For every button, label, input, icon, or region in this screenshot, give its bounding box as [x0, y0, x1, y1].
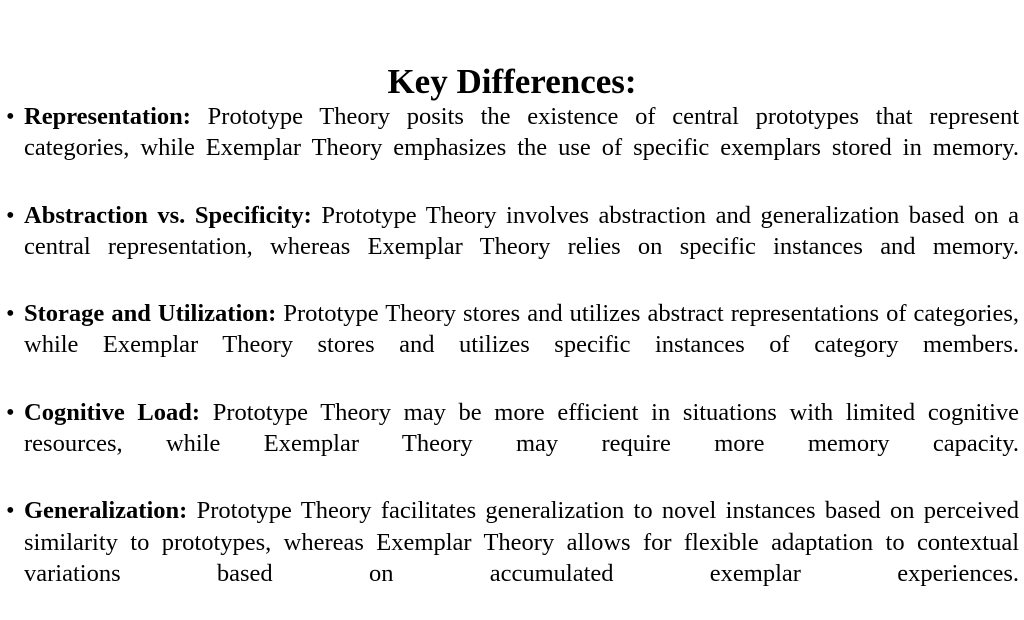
list-item: •Cognitive Load: Prototype Theory may be… — [3, 397, 1019, 491]
list-item-lead: Storage and Utilization: — [24, 300, 276, 327]
bullet-icon: • — [6, 101, 20, 132]
list-item-lead: Abstraction vs. Specificity: — [24, 202, 312, 229]
list-item: •Storage and Utilization: Prototype Theo… — [3, 298, 1019, 392]
key-differences-list: •Representation: Prototype Theory posits… — [3, 101, 1019, 620]
list-item-lead: Generalization: — [24, 497, 187, 524]
list-item: •Representation: Prototype Theory posits… — [3, 101, 1019, 195]
page-title: Key Differences: — [0, 61, 1024, 103]
bullet-icon: • — [6, 495, 20, 526]
list-item-lead: Representation: — [24, 103, 191, 130]
bullet-icon: • — [6, 298, 20, 329]
bullet-icon: • — [6, 397, 20, 428]
list-item: •Abstraction vs. Specificity: Prototype … — [3, 200, 1019, 294]
slide-canvas: Key Differences: •Representation: Protot… — [0, 0, 1024, 574]
bullet-icon: • — [6, 200, 20, 231]
list-item: •Generalization: Prototype Theory facili… — [3, 495, 1019, 620]
list-item-lead: Cognitive Load: — [24, 399, 200, 426]
